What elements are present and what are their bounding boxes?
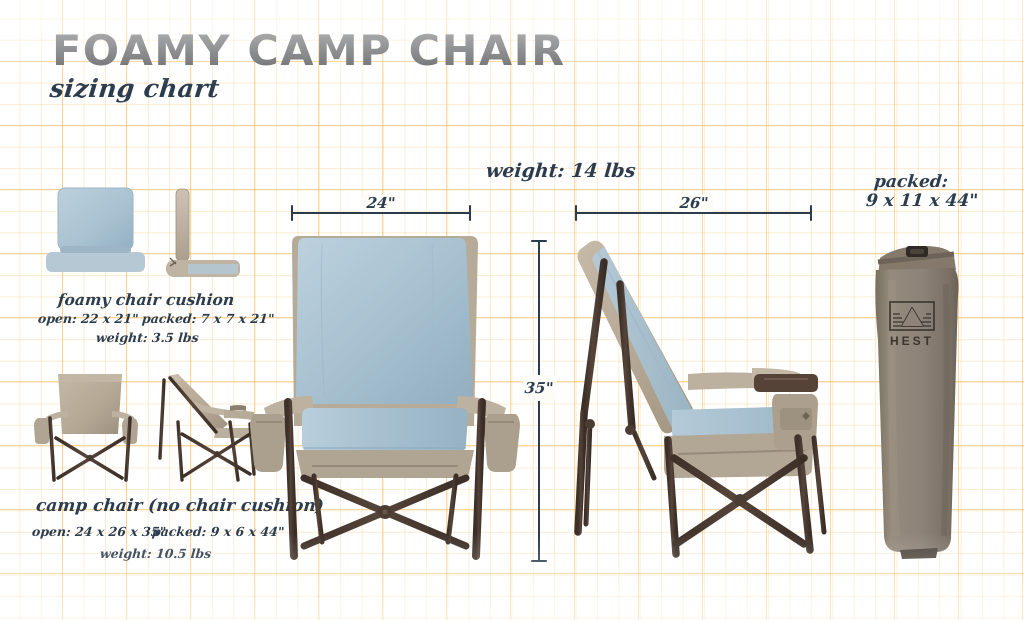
cup-holder-left [250,414,286,472]
chair-spec-weight: weight: 10.5 lbs [99,546,212,561]
packed-dimensions: 9 x 11 x 44" [865,191,979,211]
cushion-spec-weight: weight: 3.5 lbs [95,330,199,345]
camp-chair-side-view [160,374,258,480]
chair-front-view-photo [252,226,518,566]
cushion-side-view [166,189,240,277]
cup-holder-right [484,414,520,472]
total-weight-annotation: weight: 14 lbs [485,160,636,182]
cushion-spec-name: foamy chair cushion [57,290,235,309]
packed-bag-photo: HEST [862,236,982,568]
dimension-height-side: 35" [531,240,547,562]
dimension-width-side: 26" [575,205,812,221]
chair-spec-open: open: 24 x 26 x 35" [31,524,166,539]
dimension-label-26: 26" [673,194,713,212]
dimension-bar [575,212,812,214]
dimension-label-35: 35" [522,375,557,401]
camp-chair-illustration-group [30,362,270,492]
cushion-illustration-group [48,186,238,286]
packed-label: packed: [873,172,949,192]
dimension-tick-right [810,205,812,221]
chair-side-view-photo [568,232,844,568]
dimension-bar [538,240,540,562]
cushion-front-view [46,188,145,272]
dimension-tick-right [469,205,471,221]
dimension-tick-bottom [531,560,547,562]
dimension-width-front: 24" [291,205,471,221]
camp-chair-front-view [34,374,138,480]
page-title: FOAMY CAMP CHAIR [52,26,566,75]
cushion-spec-open: open: 22 x 21" [37,311,139,326]
page-subtitle: sizing chart [48,74,221,103]
dimension-bar [291,212,471,214]
hest-wordmark: HEST [890,334,934,348]
dimension-label-24: 24" [361,194,401,212]
